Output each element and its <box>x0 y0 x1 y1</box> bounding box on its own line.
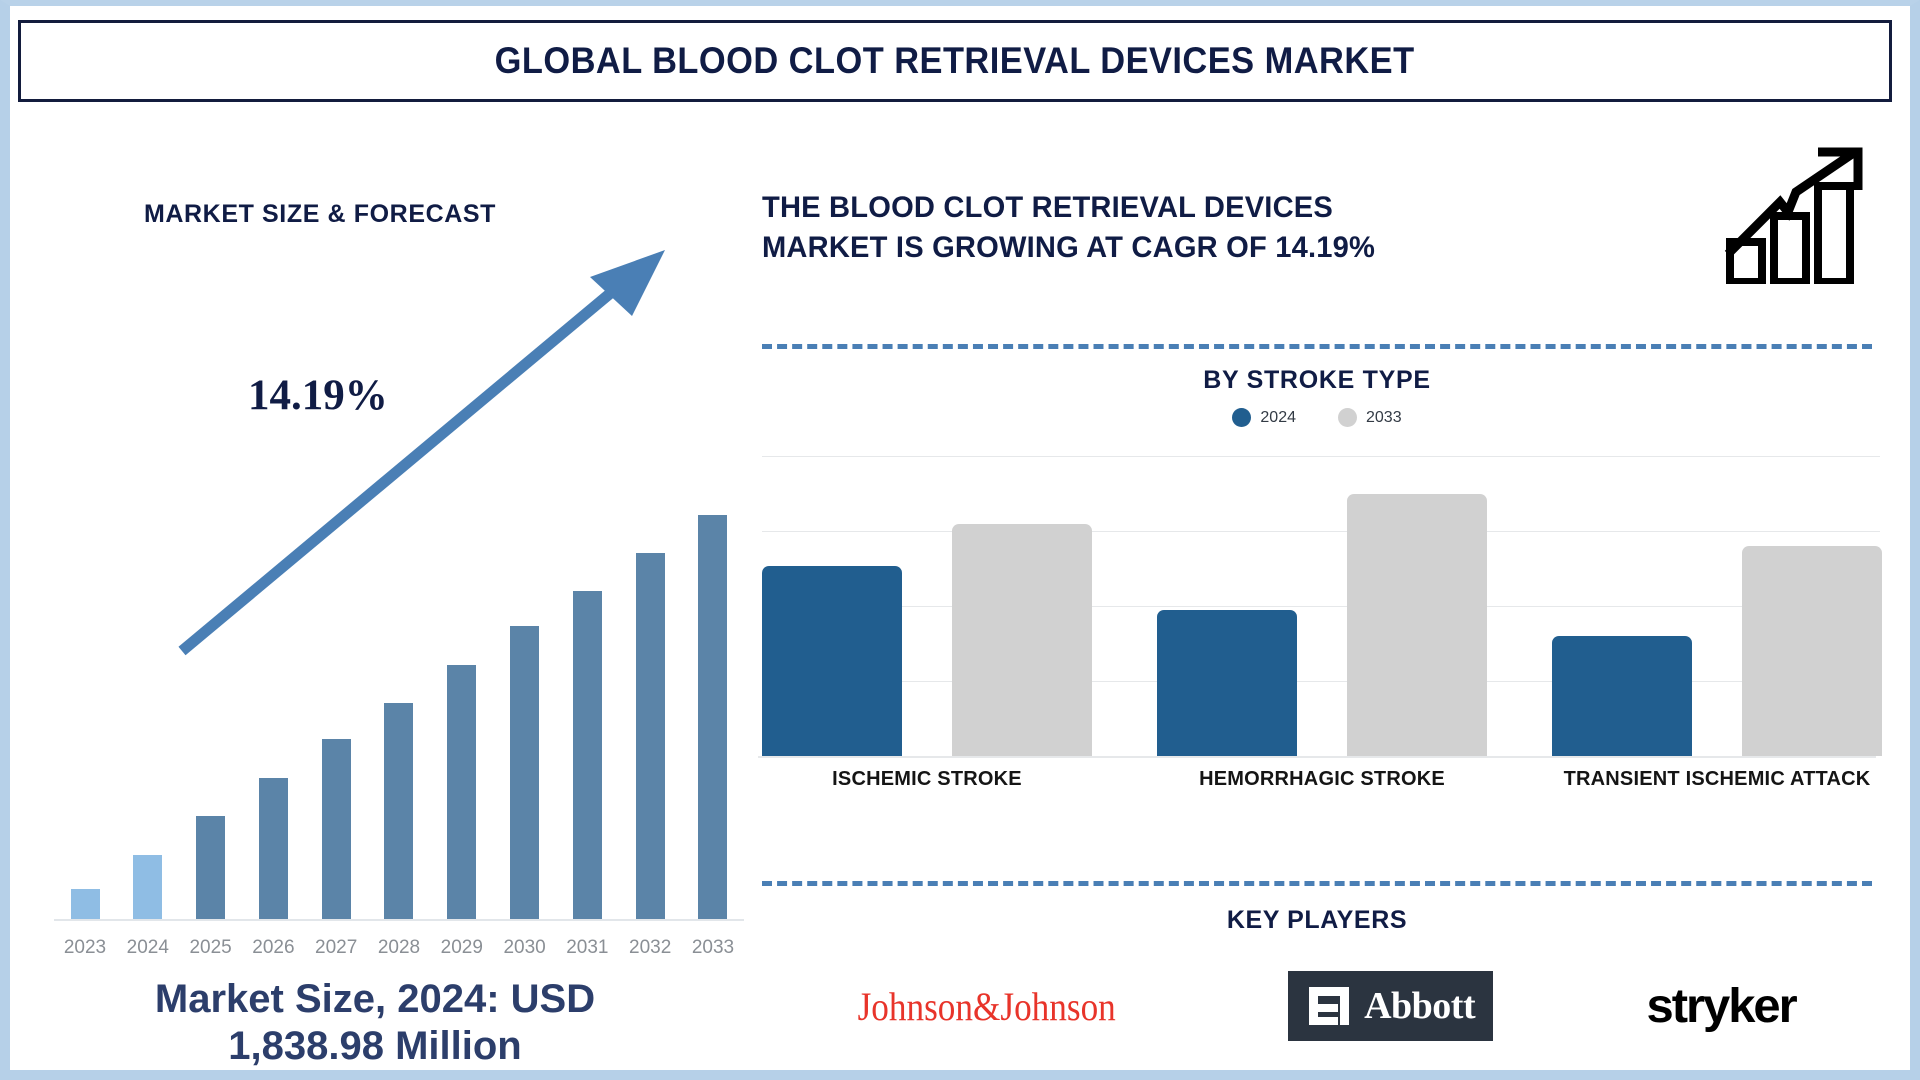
logo-abbott-text: Abbott <box>1364 984 1475 1028</box>
divider-bottom <box>762 881 1872 886</box>
bar-2027 <box>322 739 351 919</box>
stroke-type-bar-chart <box>762 456 1882 756</box>
stroke-chart-legend: 2024 2033 <box>762 408 1872 427</box>
market-size-forecast-panel: MARKET SIZE & FORECAST 14.19% <box>20 116 755 1071</box>
category-label-tia: TRANSIENT ISCHEMIC ATTACK <box>1552 768 1882 791</box>
bar-2028 <box>384 703 413 919</box>
year-label: 2033 <box>682 937 744 959</box>
bar-tia-2033 <box>1742 546 1882 756</box>
bar-slot <box>368 703 430 919</box>
bar-slot <box>494 626 556 919</box>
year-label: 2028 <box>368 937 430 959</box>
legend-label-2024: 2024 <box>1260 409 1296 427</box>
market-size-line-2: 1,838.98 Million <box>30 1023 720 1070</box>
bar-slot <box>619 553 681 919</box>
market-size-value: Market Size, 2024: USD 1,838.98 Million <box>30 976 720 1070</box>
x-axis-line <box>54 919 744 921</box>
title-bar: GLOBAL BLOOD CLOT RETRIEVAL DEVICES MARK… <box>18 20 1892 102</box>
by-stroke-type-heading: BY STROKE TYPE <box>762 366 1872 395</box>
group-hemorrhagic-stroke <box>1157 456 1487 756</box>
bar-2023 <box>71 889 100 919</box>
group-ischemic-stroke <box>762 456 1092 756</box>
bar-slot <box>180 816 242 919</box>
bar-2029 <box>447 665 476 919</box>
cagr-statement: THE BLOOD CLOT RETRIEVAL DEVICES MARKET … <box>762 188 1674 268</box>
bar-hemorrhagic-2033 <box>1347 494 1487 756</box>
growth-bar-chart-arrow-icon <box>1722 144 1872 284</box>
bar-slot <box>242 778 304 919</box>
bar-2032 <box>636 553 665 919</box>
year-axis-labels: 2023 2024 2025 2026 2027 2028 2029 2030 … <box>54 937 744 959</box>
cagr-statement-line-1: THE BLOOD CLOT RETRIEVAL DEVICES <box>762 188 1674 228</box>
stroke-bar-groups <box>762 456 1882 756</box>
key-players-heading: KEY PLAYERS <box>762 906 1872 935</box>
key-players-logos: Johnson&Johnson Abbott stryker <box>762 951 1872 1061</box>
abbott-a-mark-icon <box>1306 983 1352 1029</box>
bar-2031 <box>573 591 602 919</box>
year-label: 2025 <box>180 937 242 959</box>
bar-2025 <box>196 816 225 919</box>
legend-item-2024: 2024 <box>1232 408 1296 427</box>
year-label: 2023 <box>54 937 116 959</box>
bar-slot <box>305 739 367 919</box>
logo-johnson-and-johnson: Johnson&Johnson <box>857 983 1115 1030</box>
divider-top <box>762 344 1872 349</box>
page-title: GLOBAL BLOOD CLOT RETRIEVAL DEVICES MARK… <box>495 40 1415 82</box>
category-label-hemorrhagic: HEMORRHAGIC STROKE <box>1157 768 1487 791</box>
infographic-canvas: GLOBAL BLOOD CLOT RETRIEVAL DEVICES MARK… <box>0 0 1920 1080</box>
legend-item-2033: 2033 <box>1338 408 1402 427</box>
bar-2026 <box>259 778 288 919</box>
logo-stryker: stryker <box>1647 979 1796 1034</box>
market-size-bar-chart: 2023 2024 2025 2026 2027 2028 2029 2030 … <box>54 401 744 961</box>
bar-slot <box>431 665 493 919</box>
group-transient-ischemic-attack <box>1552 456 1882 756</box>
bar-2030 <box>510 626 539 919</box>
bar-slot <box>117 855 179 919</box>
year-label: 2031 <box>556 937 618 959</box>
year-label: 2026 <box>242 937 304 959</box>
cagr-statement-line-2: MARKET IS GROWING AT CAGR OF 14.19% <box>762 228 1674 268</box>
bar-slot <box>556 591 618 919</box>
market-size-bars <box>54 409 744 919</box>
legend-label-2033: 2033 <box>1366 409 1402 427</box>
legend-dot-2024 <box>1232 408 1251 427</box>
bar-tia-2024 <box>1552 636 1692 756</box>
bar-2024 <box>133 855 162 919</box>
logo-abbott: Abbott <box>1288 971 1493 1041</box>
market-overview-panel: THE BLOOD CLOT RETRIEVAL DEVICES MARKET … <box>758 116 1920 1071</box>
bar-ischemic-2033 <box>952 524 1092 756</box>
category-label-ischemic: ISCHEMIC STROKE <box>762 768 1092 791</box>
stroke-category-labels: ISCHEMIC STROKE HEMORRHAGIC STROKE TRANS… <box>762 768 1882 791</box>
year-label: 2027 <box>305 937 367 959</box>
bar-slot <box>682 515 744 919</box>
year-label: 2029 <box>431 937 493 959</box>
legend-dot-2033 <box>1338 408 1357 427</box>
bar-ischemic-2024 <box>762 566 902 756</box>
bar-hemorrhagic-2024 <box>1157 610 1297 756</box>
bar-2033 <box>698 515 727 919</box>
year-label: 2024 <box>117 937 179 959</box>
bar-slot <box>54 889 116 919</box>
market-size-heading: MARKET SIZE & FORECAST <box>20 200 620 229</box>
stroke-chart-baseline <box>758 756 1876 758</box>
market-size-line-1: Market Size, 2024: USD <box>30 976 720 1023</box>
year-label: 2032 <box>619 937 681 959</box>
year-label: 2030 <box>494 937 556 959</box>
